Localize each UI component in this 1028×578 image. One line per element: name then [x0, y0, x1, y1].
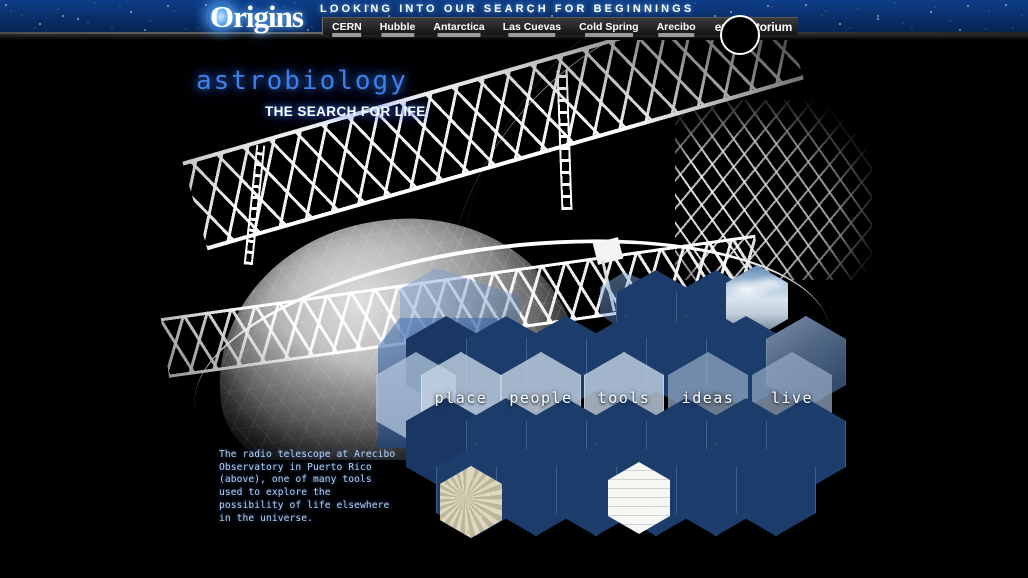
hex-label-ideas[interactable]: ideas — [668, 352, 748, 444]
page-subtitle: THE SEARCH FOR LIFE — [265, 104, 426, 119]
page-title: astrobiology — [196, 66, 408, 96]
bottom-black-margin — [0, 540, 1028, 578]
photo-caption: The radio telescope at Arecibo Observato… — [219, 449, 399, 525]
hexagon-menu: place people tools ideas live — [0, 0, 1028, 578]
hex-label-live[interactable]: live — [752, 352, 832, 444]
hex-label-place[interactable]: place — [421, 352, 501, 444]
hex-label-people[interactable]: people — [501, 352, 581, 444]
page-root: Origins LOOKING INTO OUR SEARCH FOR BEGI… — [0, 0, 1028, 578]
hex-label-tools[interactable]: tools — [584, 352, 664, 444]
